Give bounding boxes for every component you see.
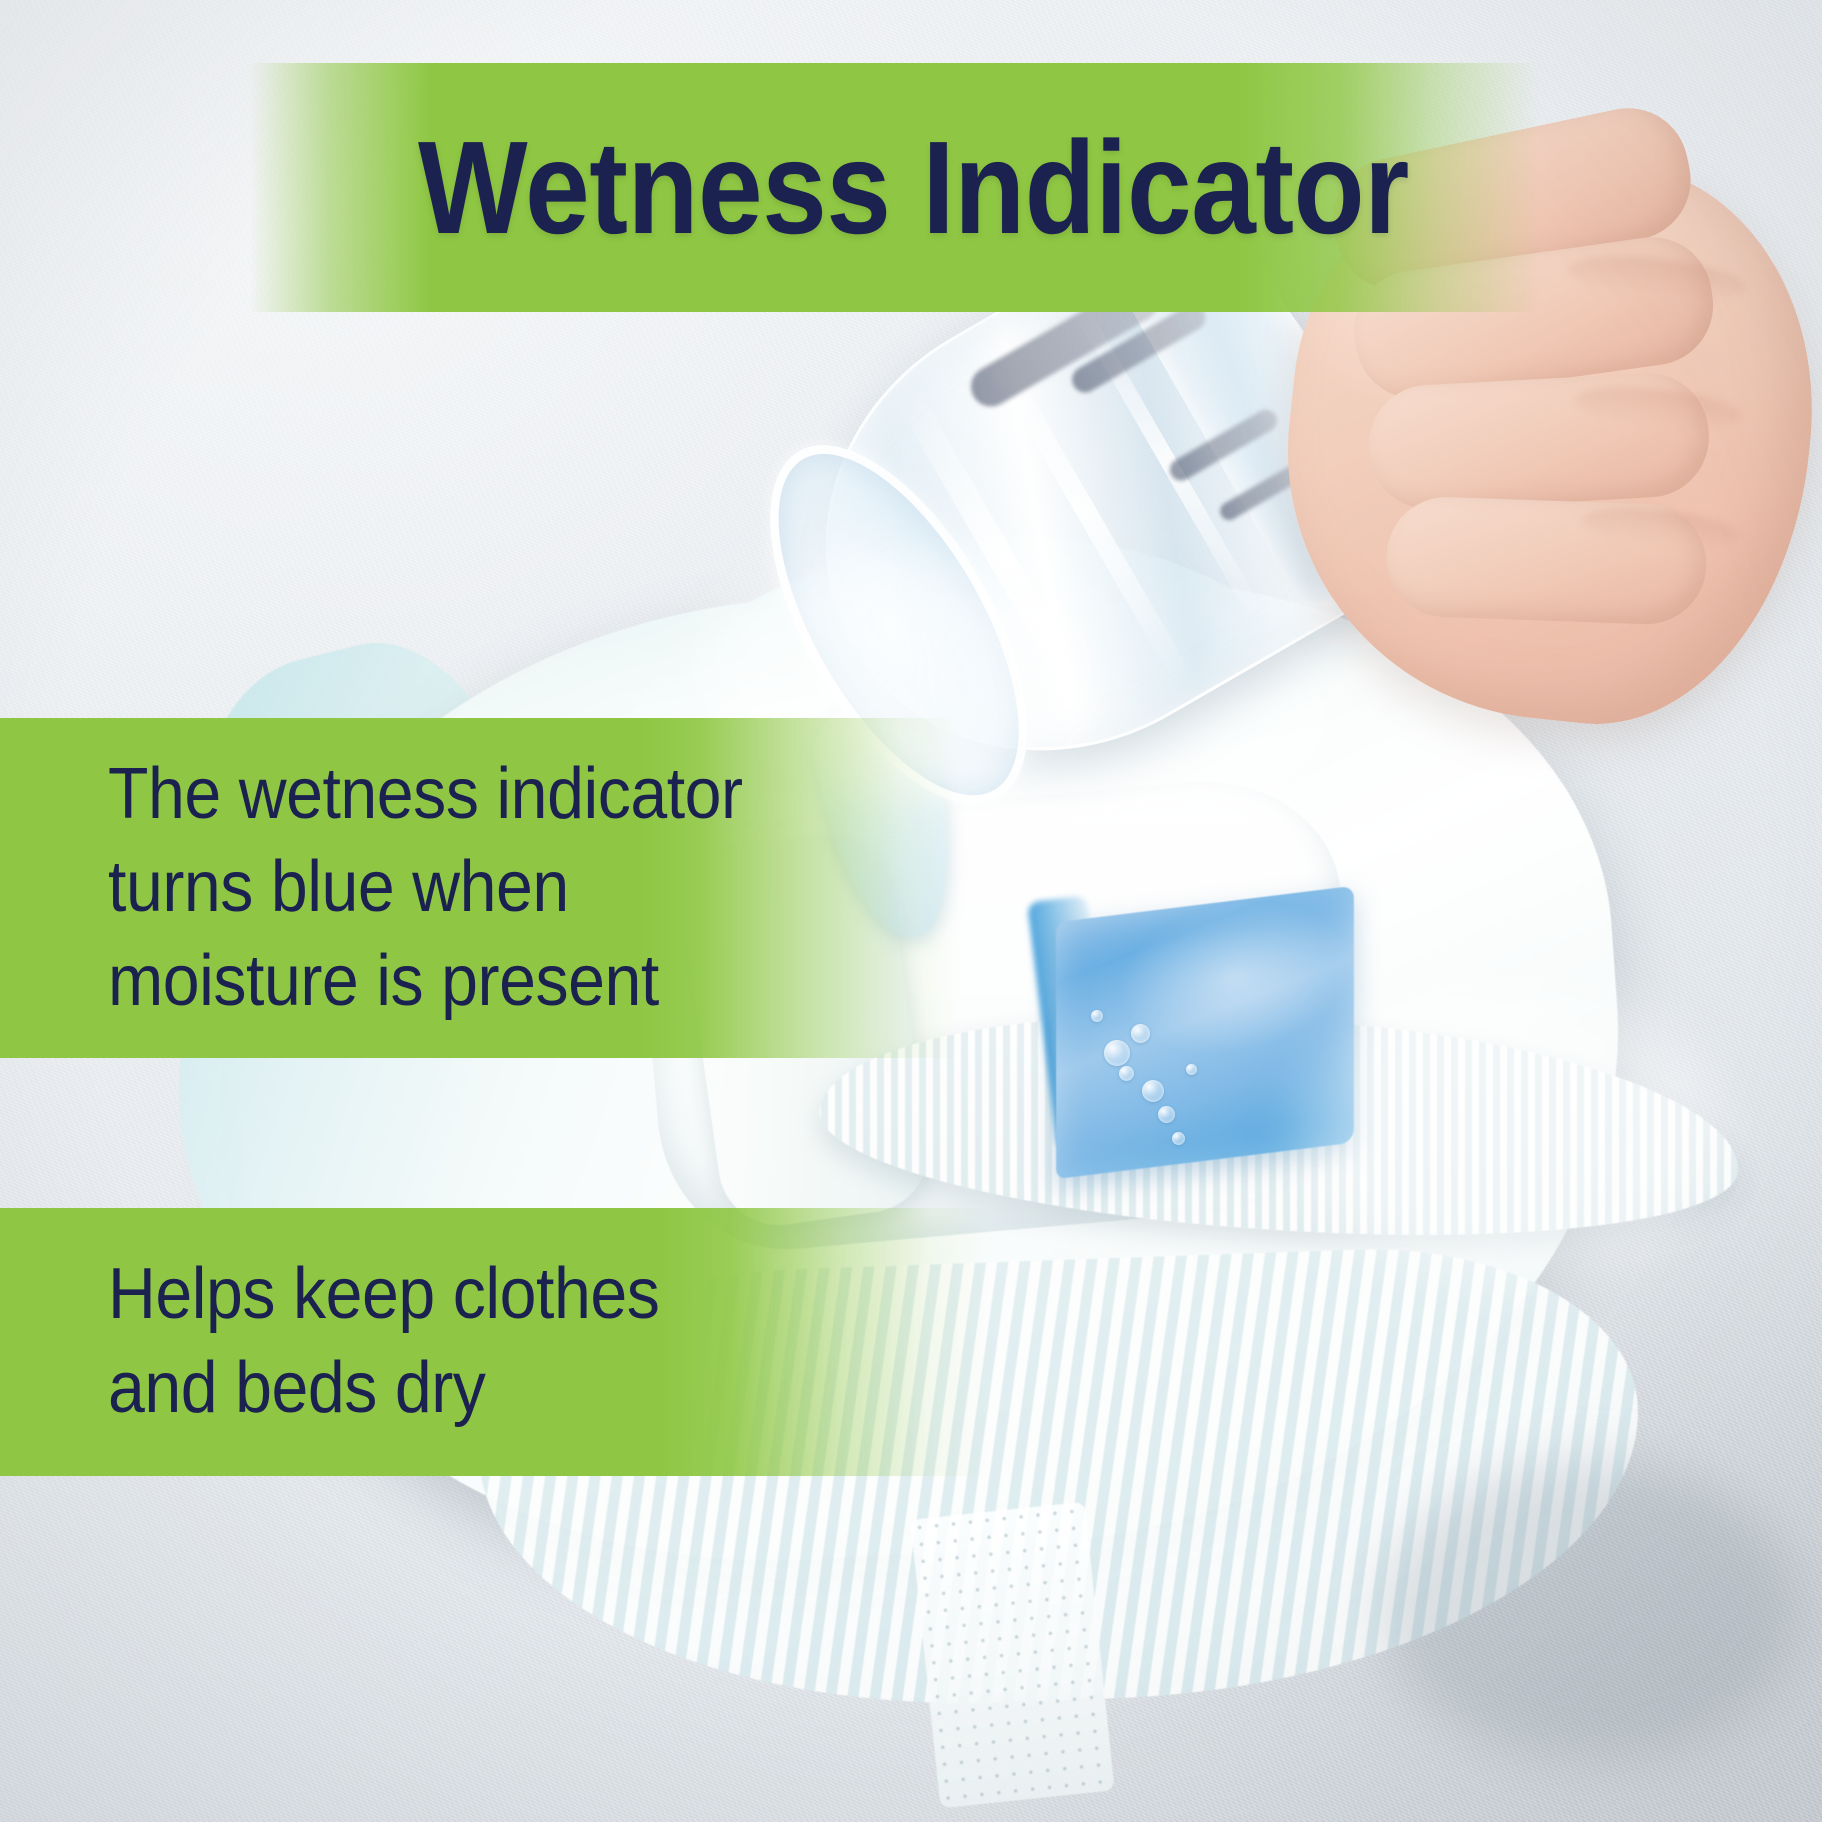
title-banner: Wetness Indicator xyxy=(0,63,1822,312)
feature-banner-one: The wetness indicator turns blue when mo… xyxy=(0,718,1000,1058)
feature-two-text: Helps keep clothes and beds dry xyxy=(108,1248,659,1435)
page-title: Wetness Indicator xyxy=(418,122,1409,254)
feature-one-text: The wetness indicator turns blue when mo… xyxy=(108,748,743,1029)
feature-banner-two: Helps keep clothes and beds dry xyxy=(0,1208,1020,1476)
product-infographic: Wetness Indicator The wetness indicator … xyxy=(0,0,1822,1822)
